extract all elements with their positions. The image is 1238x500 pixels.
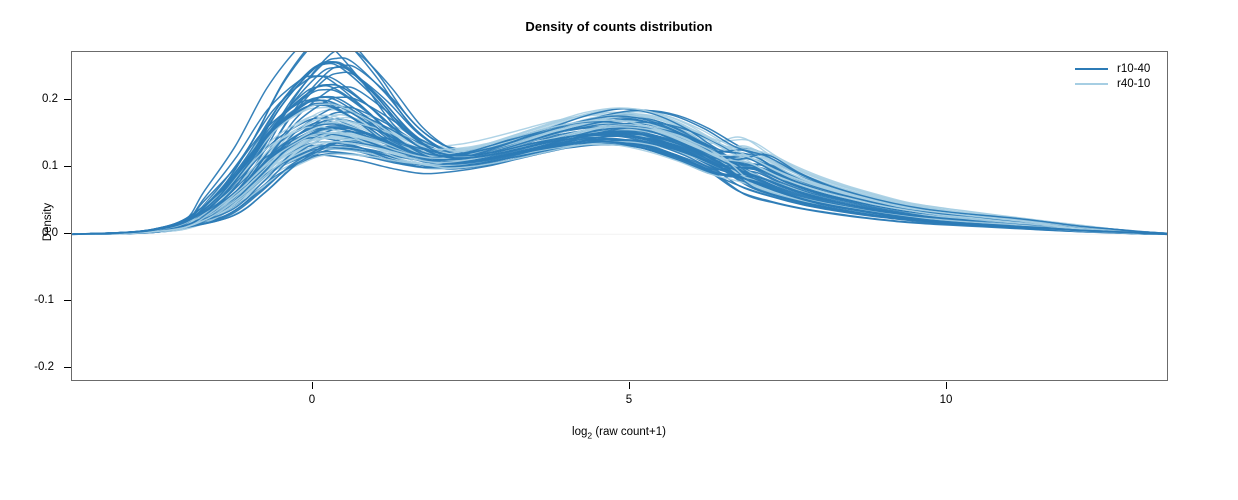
legend-label: r10-40 [1117, 63, 1150, 75]
legend-item-r40-10: r40-10 [1075, 76, 1161, 91]
legend: r10-40 r40-10 [1073, 57, 1165, 95]
xtick-mark [312, 382, 313, 389]
xtick-mark [946, 382, 947, 389]
xtick-label: 0 [292, 394, 332, 406]
xtick-label: 10 [926, 394, 966, 406]
x-axis-label: log2 (raw count+1) [0, 426, 1238, 440]
chart-page: Density of counts distribution 0.2 0.1 0… [0, 0, 1238, 500]
x-axis-label-text: log [572, 426, 587, 438]
x-axis: 0 5 10 log2 (raw count+1) [0, 0, 1238, 500]
xtick-label: 5 [609, 394, 649, 406]
legend-label: r40-10 [1117, 78, 1150, 90]
legend-item-r10-40: r10-40 [1075, 61, 1161, 76]
legend-swatch-light-blue [1075, 83, 1108, 85]
legend-swatch-dark-blue [1075, 68, 1108, 70]
x-axis-label-suffix: (raw count+1) [592, 426, 666, 438]
xtick-mark [629, 382, 630, 389]
